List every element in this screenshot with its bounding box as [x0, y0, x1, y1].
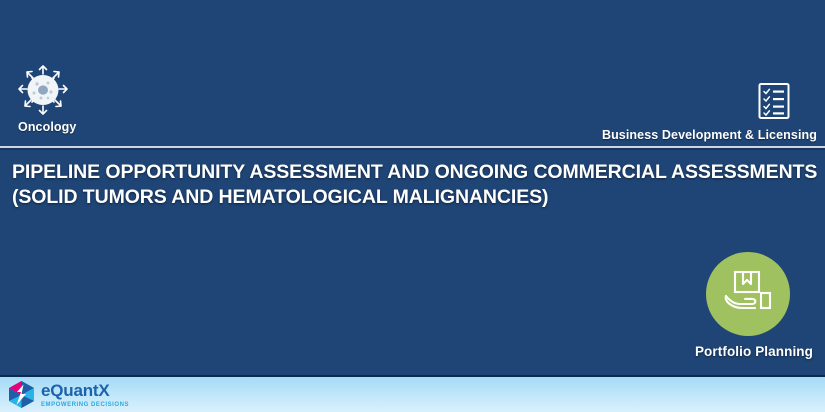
page-title: PIPELINE OPPORTUNITY ASSESSMENT AND ONGO… [12, 160, 817, 210]
equantx-wordmark: eQuantX [41, 382, 129, 400]
therapeutic-area-tag-oncology: Oncology [10, 62, 120, 134]
header-band: Oncology [0, 0, 825, 147]
equantx-tagline: EMPOWERING DECISIONS [41, 401, 129, 409]
hand-holding-box-icon [722, 269, 774, 320]
footer-bar: eQuantX EMPOWERING DECISIONS [0, 377, 825, 412]
portfolio-planning-badge: Portfolio Planning [633, 252, 813, 359]
equantx-logo[interactable]: eQuantX EMPOWERING DECISIONS [7, 380, 129, 409]
page-title-line-1: PIPELINE OPPORTUNITY ASSESSMENT AND ONGO… [12, 160, 817, 185]
portfolio-planning-circle [706, 252, 790, 336]
page-title-line-2: (SOLID TUMORS AND HEMATOLOGICAL MALIGNAN… [12, 185, 817, 210]
function-tag-label: Business Development & Licensing [602, 128, 817, 142]
therapeutic-area-label: Oncology [18, 120, 120, 134]
checklist-clipboard-icon [757, 82, 791, 120]
function-tag-business-development: Business Development & Licensing [602, 82, 817, 142]
header-divider-shadow [0, 148, 825, 150]
slide-canvas: Oncology [0, 0, 825, 412]
equantx-wordmark-group: eQuantX EMPOWERING DECISIONS [41, 381, 129, 409]
cancer-cell-icon [14, 62, 72, 118]
equantx-diamond-logo-icon [7, 380, 36, 409]
portfolio-planning-label: Portfolio Planning [633, 344, 813, 359]
